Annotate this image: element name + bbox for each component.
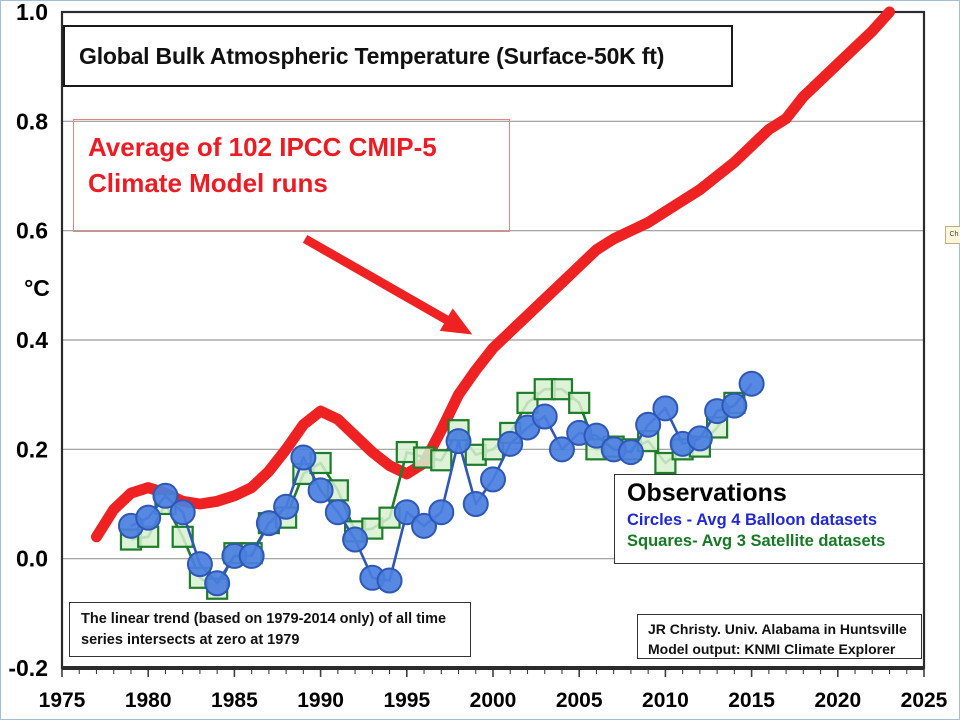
y-axis-labels: -0.20.00.20.40.60.81.0 (8, 1, 48, 681)
legend-entry-balloon: Circles - Avg 4 Balloon datasets (627, 510, 923, 531)
svg-text:1.0: 1.0 (16, 1, 48, 25)
chart-title-box: Global Bulk Atmospheric Temperature (Sur… (63, 25, 733, 87)
legend-entry-satellite: Squares- Avg 3 Satellite datasets (627, 531, 923, 552)
svg-text:0.0: 0.0 (16, 546, 48, 572)
trend-note-box: The linear trend (based on 1979-2014 onl… (69, 602, 471, 657)
svg-text:1975: 1975 (39, 689, 86, 712)
svg-text:2005: 2005 (556, 689, 603, 712)
svg-text:0.8: 0.8 (16, 108, 48, 134)
trend-note-line1: The linear trend (based on 1979-2014 onl… (81, 609, 470, 630)
page-title: Global Bulk Atmospheric Temperature (Sur… (65, 43, 664, 70)
trend-note-line2: series intersects at zero at 1979 (81, 630, 470, 651)
svg-text:1990: 1990 (297, 689, 344, 712)
svg-text:1980: 1980 (125, 689, 172, 712)
svg-text:2010: 2010 (642, 689, 689, 712)
observations-heading: Observations (627, 479, 923, 508)
credit-box: JR Christy. Univ. Alabama in Huntsville … (637, 614, 922, 659)
model-annotation-box: Average of 102 IPCC CMIP-5 Climate Model… (73, 119, 510, 232)
y-axis-unit-label: °C (24, 275, 50, 301)
svg-text:-0.2: -0.2 (8, 655, 48, 681)
model-annotation-line1: Average of 102 IPCC CMIP-5 (88, 130, 509, 166)
svg-text:0.6: 0.6 (16, 218, 48, 244)
edge-tooltip-artifact: Ch (945, 226, 960, 244)
svg-text:1995: 1995 (383, 689, 430, 712)
chart-page: -0.20.00.20.40.60.81.0 19751980198519901… (0, 0, 960, 720)
model-annotation-line2: Climate Model runs (88, 166, 509, 202)
credit-line2: Model output: KNMI Climate Explorer (648, 639, 921, 659)
svg-text:2000: 2000 (470, 689, 517, 712)
svg-text:2015: 2015 (728, 689, 775, 712)
x-axis-labels: 1975198019851990199520002005201020152020… (39, 689, 948, 712)
svg-text:°C: °C (24, 275, 50, 301)
svg-text:1985: 1985 (211, 689, 258, 712)
svg-text:2020: 2020 (814, 689, 861, 712)
observations-legend-box: Observations Circles - Avg 4 Balloon dat… (614, 474, 924, 564)
svg-text:2025: 2025 (901, 689, 948, 712)
credit-line1: JR Christy. Univ. Alabama in Huntsville (648, 619, 921, 639)
svg-text:0.2: 0.2 (16, 436, 48, 462)
annotation-arrow (305, 239, 472, 335)
svg-text:0.4: 0.4 (16, 327, 48, 353)
